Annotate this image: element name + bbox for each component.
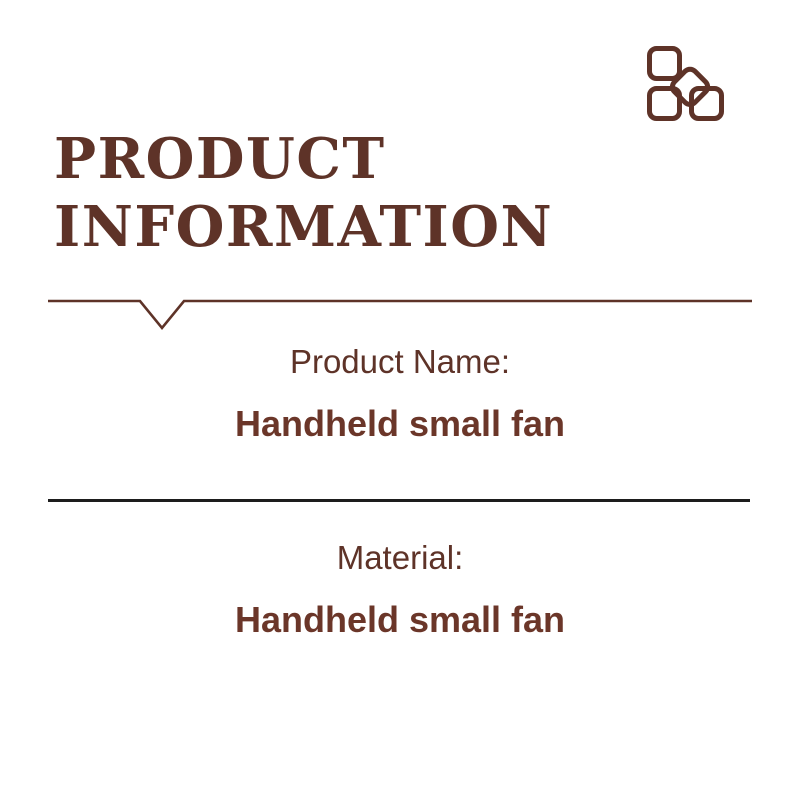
page-title-line-2: INFORMATION xyxy=(54,193,754,261)
notched-divider-path xyxy=(48,301,752,328)
page-title: PRODUCT INFORMATION xyxy=(54,125,754,261)
info-row-material: Material: Handheld small fan xyxy=(0,536,800,644)
info-value-material: Handheld small fan xyxy=(0,596,800,644)
solid-divider xyxy=(48,499,750,502)
page-title-line-1: PRODUCT xyxy=(54,125,754,193)
notched-divider xyxy=(48,288,752,338)
grid-diamond-icon xyxy=(646,43,726,123)
info-value-product-name: Handheld small fan xyxy=(0,400,800,448)
info-label-material: Material: xyxy=(0,536,800,580)
product-information-card: PRODUCT INFORMATION Product Name: Handhe… xyxy=(0,0,800,800)
grid-square-top-left xyxy=(650,49,680,79)
info-row-product-name: Product Name: Handheld small fan xyxy=(0,340,800,448)
info-label-product-name: Product Name: xyxy=(0,340,800,384)
